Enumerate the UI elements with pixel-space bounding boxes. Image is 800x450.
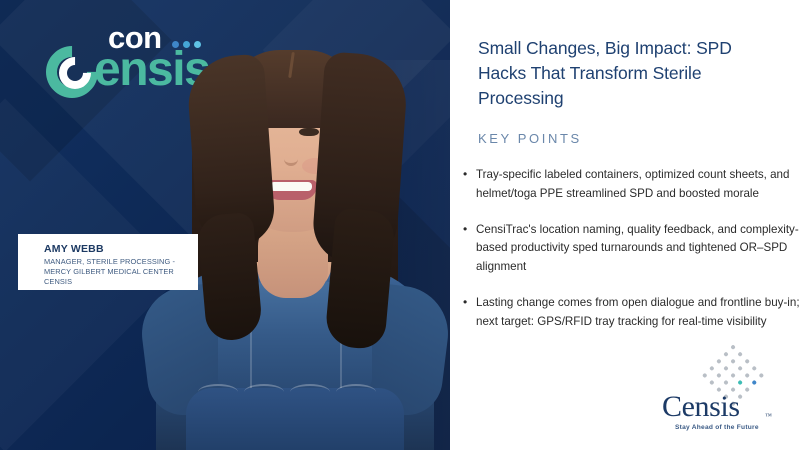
key-point-item: Tray-specific labeled containers, optimi… <box>456 166 800 204</box>
speaker-role-line-2: MERCY GILBERT MEDICAL CENTER <box>44 267 198 277</box>
key-points-heading: KEY POINTS <box>478 131 582 146</box>
slide-title: Small Changes, Big Impact: SPD Hacks Tha… <box>478 36 782 111</box>
key-point-item: CensiTrac's location naming, quality fee… <box>456 221 800 277</box>
slide-canvas: con ensis <box>0 0 800 450</box>
speaker-role-line-1: MANAGER, STERILE PROCESSING - <box>44 257 198 267</box>
censis-trademark-symbol: ™ <box>765 412 772 420</box>
speaker-role-line-3: CENSIS <box>44 277 198 287</box>
speaker-name-card: AMY WEBB MANAGER, STERILE PROCESSING - M… <box>18 234 198 290</box>
censis-company-logo: Censis ™ Stay Ahead of the Future <box>662 358 786 436</box>
speaker-name: AMY WEBB <box>44 243 198 255</box>
key-point-item: Lasting change comes from open dialogue … <box>456 294 800 332</box>
right-content-panel: Small Changes, Big Impact: SPD Hacks Tha… <box>450 0 800 450</box>
speaker-portrait-photo <box>140 0 450 450</box>
censis-wordmark: Censis <box>662 392 740 422</box>
key-points-list: Tray-specific labeled containers, optimi… <box>456 166 800 348</box>
censis-tagline: Stay Ahead of the Future <box>675 424 759 431</box>
left-navy-panel: con ensis <box>0 0 450 450</box>
